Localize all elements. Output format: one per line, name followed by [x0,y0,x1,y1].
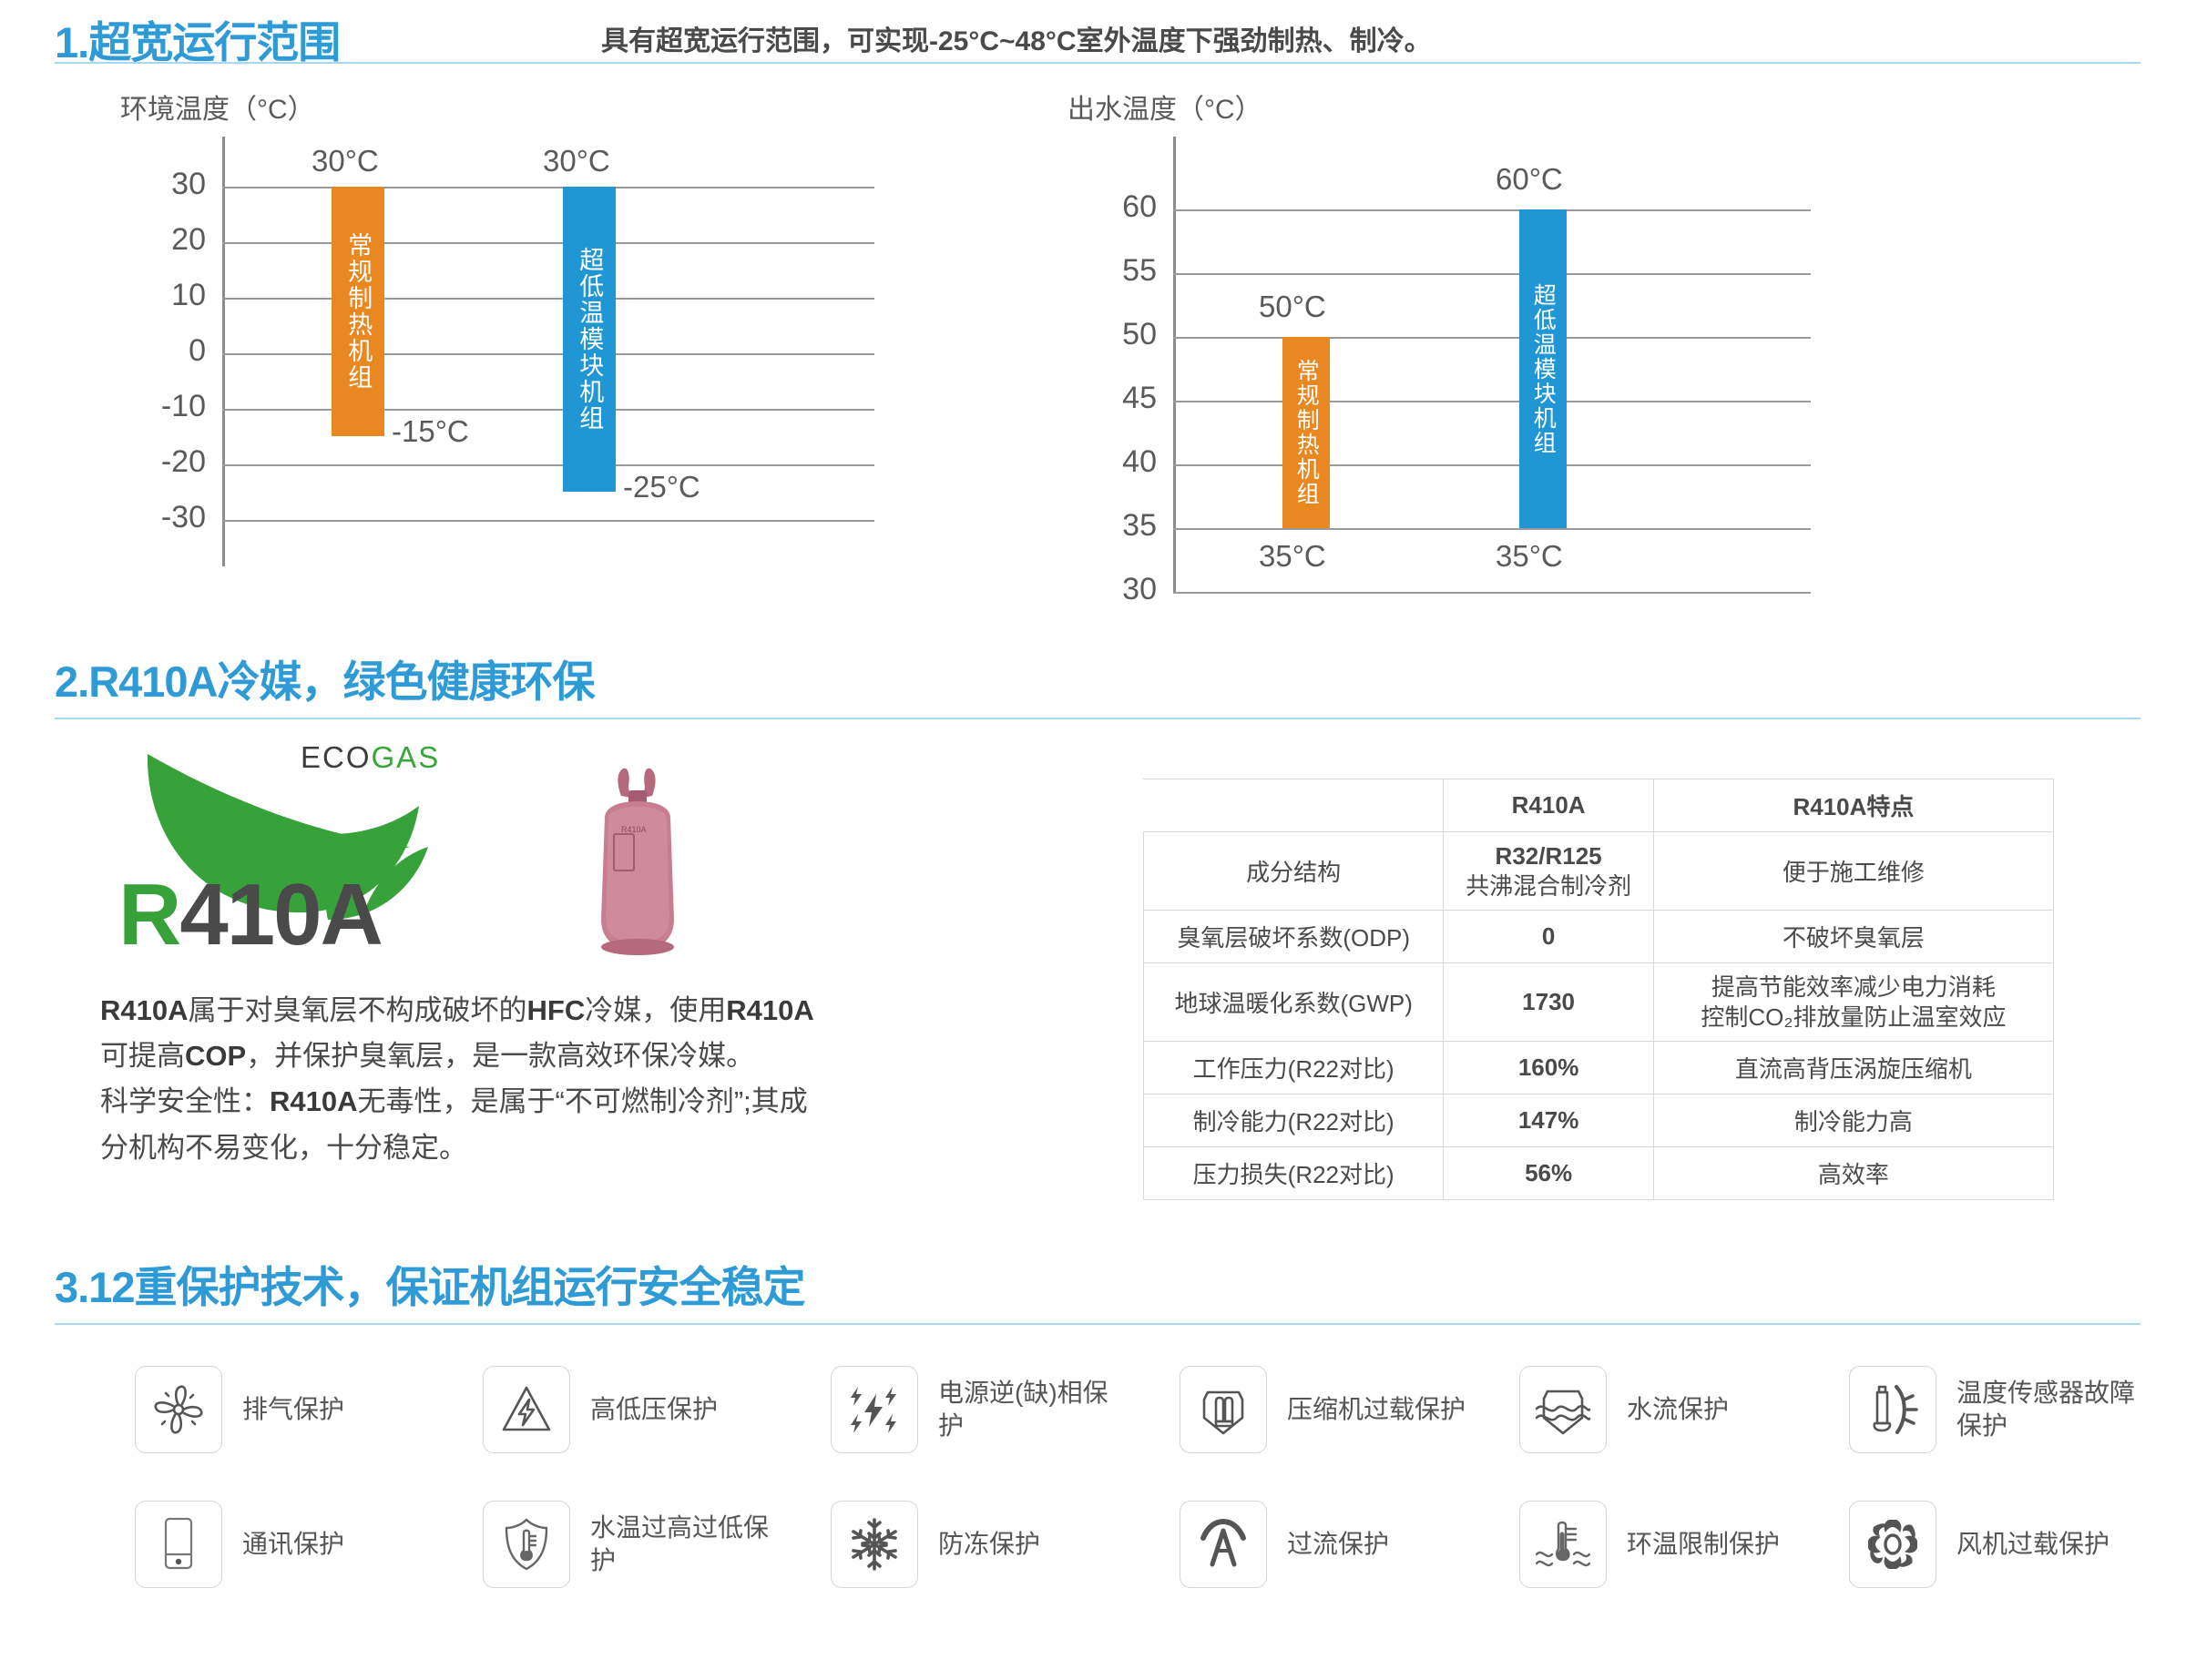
chart-2-bar-2-top-value: 60°C [1496,162,1563,197]
antifreeze-icon-box [831,1501,918,1588]
protection-label: 排气保护 [242,1393,344,1426]
protection-label: 电源逆(缺)相保护 [938,1377,1129,1442]
refrigerant-line1-b: 属于对臭氧层不构成破坏的 [189,994,527,1026]
chart-1-gridline [222,298,874,300]
table-cell-label: 压力损失(R22对比) [1144,1147,1444,1200]
chart-1-gridline [222,520,874,522]
ecogas-logo: ECOGAS R410A [118,738,628,965]
exhaust-fan-icon-box [135,1366,222,1453]
table-cell-value-line2: 共沸混合制冷剂 [1451,871,1646,901]
chart-2-ytick: 35 [1057,508,1157,544]
table-cell-value: 56% [1444,1147,1654,1200]
ecogas-wordmark: ECOGAS [301,740,440,775]
table-cell-value: 147% [1444,1095,1654,1147]
table-row: 地球温暖化系数(GWP) 1730 提高节能效率减少电力消耗 控制CO₂排放量防… [1144,963,2054,1042]
ambient-temp-icon [1535,1516,1591,1573]
chart-2-gridline [1173,592,1811,594]
protection-label: 环温限制保护 [1627,1528,1780,1561]
chart-1-ytick: 30 [109,167,206,202]
table-cell-feature: 便于施工维修 [1653,832,2053,911]
chart-2-bar-2-bottom-value: 35°C [1496,539,1563,574]
table-cell-label: 地球温暖化系数(GWP) [1144,963,1444,1042]
refrigerant-line3-b: R410A [270,1085,358,1117]
water-flow-icon [1535,1381,1591,1438]
chart-1-ytick: 20 [109,222,206,258]
antifreeze-icon [846,1516,903,1573]
chart-2-plot-area: 60 55 50 45 40 35 30 常规制热机组 50°C 35°C 超低… [1057,137,1840,592]
r410a-wordmark: R410A [118,865,382,965]
protection-label: 通讯保护 [242,1528,344,1561]
power-phase-icon [846,1381,903,1438]
chart-1-plot-area: 30 20 10 0 -10 -20 -30 常规制热机组 30°C -15°C… [109,137,874,574]
chart-1-bar-1-top-value: 30°C [312,144,379,178]
table-header-blank [1144,779,1444,832]
protection-label: 温度传感器故障保护 [1956,1377,2148,1442]
temp-sensor-icon-box [1849,1366,1936,1453]
section-1-subtitle: 具有超宽运行范围，可实现-25°C~48°C室外温度下强劲制热、制冷。 [601,18,1432,58]
fan-overload-icon-box [1849,1501,1936,1588]
table-cell-label: 臭氧层破坏系数(ODP) [1144,911,1444,963]
refrigerant-line1-e: R410A [726,994,814,1026]
temp-sensor-icon [1864,1381,1921,1438]
protection-item-fan-overload[interactable]: 风机过载保护 [1849,1501,2109,1588]
protection-label: 过流保护 [1287,1528,1389,1561]
chart-outlet-water-temperature: 出水温度（°C） 60 55 50 45 40 35 30 常规制热机组 50°… [1057,87,1967,596]
chart-1-bar-2-top-value: 30°C [543,144,610,178]
section-3-divider [55,1323,2140,1325]
table-cell-feature: 不破坏臭氧层 [1653,911,2053,963]
table-row: 臭氧层破坏系数(ODP) 0 不破坏臭氧层 [1144,911,2054,963]
compressor-overload-icon-box [1180,1366,1267,1453]
protection-label: 防冻保护 [938,1528,1040,1561]
protection-label: 风机过载保护 [1956,1528,2109,1561]
chart-1-gridline [222,464,874,466]
r410a-a-text: A [321,866,382,963]
refrigerant-line1-c: HFC [527,994,586,1026]
high-low-pressure-icon-box [483,1366,570,1453]
chart-2-ytick: 40 [1057,444,1157,480]
table-cell-feature: 高效率 [1653,1147,2053,1200]
chart-2-gridline [1173,464,1811,466]
section-2-title: 2.R410A冷媒，绿色健康环保 [55,647,595,709]
chart-2-ytick: 30 [1057,572,1157,607]
refrigerant-line-3: 科学安全性：R410A无毒性，是属于“不可燃制冷剂”;其成 [100,1079,1011,1125]
chart-1-gridline [222,353,874,355]
table-cell-feature: 直流高背压涡旋压缩机 [1653,1042,2053,1095]
chart-2-gridline [1173,401,1811,402]
ambient-temp-icon-box [1519,1501,1607,1588]
table-cell-label: 制冷能力(R22对比) [1144,1095,1444,1147]
protection-item-communication[interactable]: 通讯保护 [135,1501,344,1588]
chart-2-bar-ultra-low: 超低温模块机组 [1519,209,1567,528]
ecogas-gas-text: GAS [372,740,441,774]
protection-item-phase[interactable]: 电源逆(缺)相保护 [831,1366,1129,1453]
chart-2-gridline [1173,209,1811,211]
chart-2-gridline [1173,337,1811,339]
protection-item-overcurrent[interactable]: 过流保护 [1180,1501,1389,1588]
chart-2-gridline [1173,273,1811,275]
section-1-divider [55,62,2140,64]
table-row: 压力损失(R22对比) 56% 高效率 [1144,1147,2054,1200]
water-temp-shield-icon [498,1516,555,1573]
chart-1-ytick: 10 [109,278,206,313]
refrigerant-line2-c: ，并保护臭氧层，是一款高效环保冷媒。 [246,1040,754,1072]
refrigerant-line3-c: 无毒性，是属于“不可燃制冷剂”;其成 [358,1085,808,1117]
refrigerant-line2-b: COP [185,1040,246,1072]
table-row: 工作压力(R22对比) 160% 直流高背压涡旋压缩机 [1144,1042,2054,1095]
chart-ambient-temperature: 环境温度（°C） 30 20 10 0 -10 -20 -30 常规制热机组 [109,87,984,596]
table-cell-value: 0 [1444,911,1654,963]
chart-1-ytick: 0 [109,333,206,369]
section-1-title: 1.超宽运行范围 [55,7,340,70]
table-header-row: R410A R410A特点 [1144,779,2054,832]
section-3-title: 3.12重保护技术，保证机组运行安全稳定 [55,1252,804,1315]
chart-1-bar-1-bottom-value: -15°C [392,414,469,449]
overcurrent-icon-box [1180,1501,1267,1588]
chart-1-y-axis [222,137,225,566]
table-cell-feature: 制冷能力高 [1653,1095,2053,1147]
protection-item-compressor[interactable]: 压缩机过载保护 [1180,1366,1466,1453]
exhaust-fan-icon [150,1381,207,1438]
chart-2-bar-1-bottom-value: 35°C [1259,539,1326,574]
protection-item-water-temp[interactable]: 水温过高过低保护 [483,1501,777,1588]
protection-label: 高低压保护 [590,1393,718,1426]
table-header-feature: R410A特点 [1653,779,2053,832]
chart-1-bar-1-text: 常规制热机组 [345,232,372,391]
chart-2-bar-conventional: 常规制热机组 [1282,337,1330,528]
power-phase-icon-box [831,1366,918,1453]
chart-1-axis-label: 环境温度（°C） [120,87,315,127]
table-cell-label: 成分结构 [1144,832,1444,911]
chart-1-bar-2-bottom-value: -25°C [623,470,700,504]
chart-1-ytick: -20 [109,444,206,480]
table-cell-feature: 提高节能效率减少电力消耗 控制CO₂排放量防止温室效应 [1653,963,2053,1042]
section-2-divider [55,718,2140,719]
refrigerant-line-4: 分机构不易变化，十分稳定。 [100,1125,1011,1171]
chart-2-ytick: 45 [1057,381,1157,416]
chart-2-ytick: 50 [1057,317,1157,352]
chart-2-bar-1-text: 常规制热机组 [1294,359,1319,506]
table-cell-value: R32/R125 共沸混合制冷剂 [1444,832,1654,911]
table-cell-value: 1730 [1444,963,1654,1042]
high-low-pressure-icon [498,1381,555,1438]
compressor-overload-icon [1195,1381,1251,1438]
table-cell-feature-line2: 控制CO₂排放量防止温室效应 [1661,1003,2046,1033]
refrigerant-line3-a: 科学安全性： [100,1085,270,1117]
chart-1-gridline [222,187,874,188]
chart-2-ytick: 60 [1057,189,1157,225]
protection-label: 水温过高过低保护 [590,1512,777,1577]
r410a-410-text: 410 [179,866,320,963]
chart-2-axis-label: 出水温度（°C） [1067,87,1262,127]
table-cell-value: 160% [1444,1042,1654,1095]
table-cell-value-line1: R32/R125 [1451,841,1646,871]
table-row: 制冷能力(R22对比) 147% 制冷能力高 [1144,1095,2054,1147]
product-spec-page: 1.超宽运行范围 具有超宽运行范围，可实现-25°C~48°C室外温度下强劲制热… [0,0,2186,1680]
table-cell-feature-line1: 提高节能效率减少电力消耗 [1661,972,2046,1003]
chart-2-bar-1-top-value: 50°C [1259,290,1326,324]
r410a-spec-table: R410A R410A特点 成分结构 R32/R125 共沸混合制冷剂 便于施工… [1143,779,2054,1200]
protection-item-pressure[interactable]: 高低压保护 [483,1366,718,1453]
table-header-r410a: R410A [1444,779,1654,832]
protection-item-water-flow[interactable]: 水流保护 [1519,1366,1729,1453]
fan-overload-icon [1864,1516,1921,1573]
chart-2-bar-2-text: 超低温模块机组 [1531,283,1556,455]
chart-1-gridline [222,409,874,411]
refrigerant-line1-d: 冷媒，使用 [585,994,726,1026]
chart-2-y-axis [1173,137,1176,592]
r410a-r-text: R [118,866,179,963]
refrigerant-line-1: R410A属于对臭氧层不构成破坏的HFC冷媒，使用R410A [100,988,1011,1033]
communication-icon [150,1516,207,1573]
chart-1-gridline [222,242,874,244]
protection-label: 压缩机过载保护 [1287,1393,1466,1426]
chart-1-bar-2-text: 超低温模块机组 [577,247,603,432]
protection-label: 水流保护 [1627,1393,1729,1426]
chart-2-ytick: 55 [1057,253,1157,289]
water-flow-icon-box [1519,1366,1607,1453]
chart-1-bar-ultra-low: 超低温模块机组 [563,187,616,492]
overcurrent-icon [1195,1516,1251,1573]
communication-icon-box [135,1501,222,1588]
chart-1-ytick: -10 [109,389,206,424]
ecogas-eco-text: ECO [301,740,372,774]
refrigerant-line1-a: R410A [100,994,189,1026]
protection-item-exhaust[interactable]: 排气保护 [135,1366,344,1453]
refrigerant-line2-a: 可提高 [100,1040,185,1072]
protection-item-temp-sensor[interactable]: 温度传感器故障保护 [1849,1366,2148,1453]
chart-1-bar-conventional: 常规制热机组 [332,187,384,436]
protection-item-ambient-temp[interactable]: 环温限制保护 [1519,1501,1780,1588]
chart-1-ytick: -30 [109,500,206,535]
refrigerant-description: R410A属于对臭氧层不构成破坏的HFC冷媒，使用R410A 可提高COP，并保… [100,988,1011,1171]
refrigerant-cylinder-icon: R410A [565,765,720,965]
protection-item-antifreeze[interactable]: 防冻保护 [831,1501,1040,1588]
table-row: 成分结构 R32/R125 共沸混合制冷剂 便于施工维修 [1144,832,2054,911]
svg-text:R410A: R410A [621,825,647,834]
table-cell-label: 工作压力(R22对比) [1144,1042,1444,1095]
refrigerant-line-2: 可提高COP，并保护臭氧层，是一款高效环保冷媒。 [100,1033,1011,1079]
water-temp-shield-icon-box [483,1501,570,1588]
chart-2-gridline [1173,528,1811,530]
